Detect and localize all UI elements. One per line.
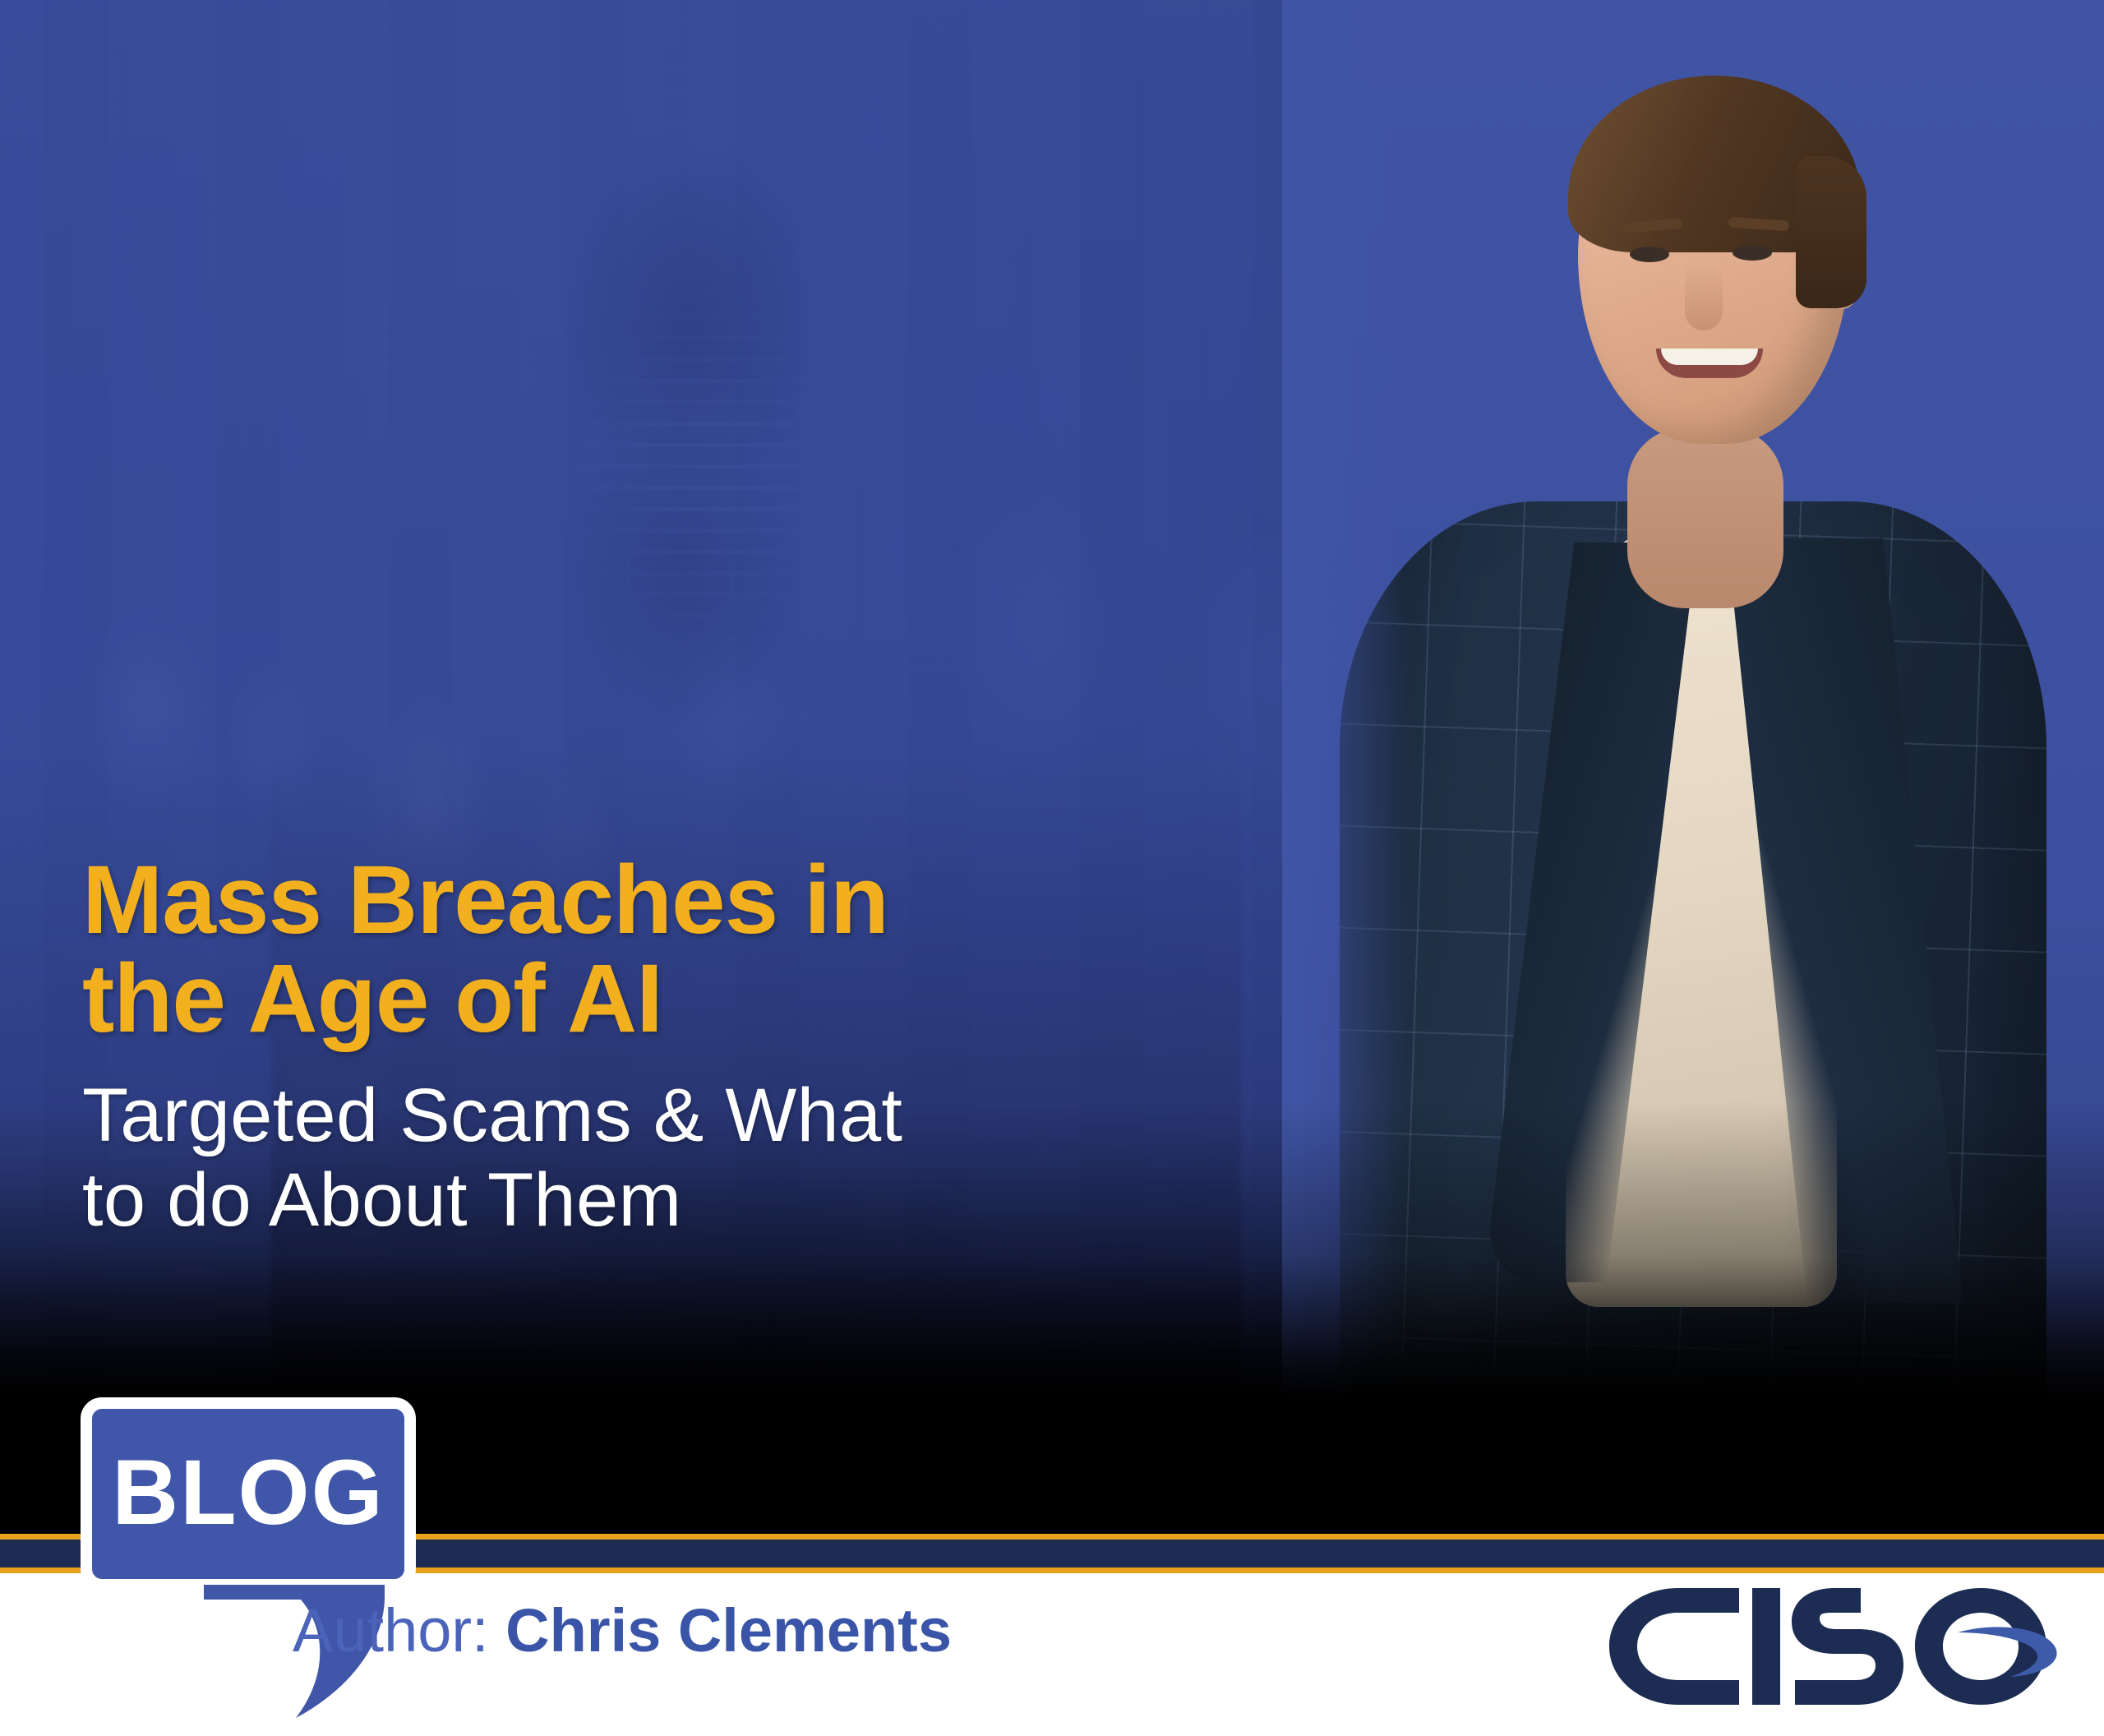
author-name: Chris Clements bbox=[505, 1596, 952, 1664]
blog-badge[interactable]: BLOG bbox=[81, 1397, 416, 1726]
portrait-hair-side bbox=[1796, 156, 1866, 308]
author-label: Author: bbox=[293, 1596, 489, 1664]
hero-background: Mass Breaches in the Age of AI Targeted … bbox=[0, 0, 2104, 1397]
portrait-eye-left bbox=[1630, 247, 1669, 262]
page-subtitle: Targeted Scams & What to do About Them bbox=[82, 1073, 1274, 1243]
blog-badge-label: BLOG bbox=[112, 1447, 385, 1539]
blog-badge-box[interactable]: BLOG bbox=[81, 1397, 416, 1591]
portrait-eye-right bbox=[1733, 245, 1772, 261]
title-line-1: Mass Breaches in bbox=[82, 851, 1274, 949]
ciso-logo[interactable] bbox=[1599, 1585, 2060, 1708]
blog-banner-canvas: Mass Breaches in the Age of AI Targeted … bbox=[0, 0, 2104, 1736]
page-title: Mass Breaches in the Age of AI bbox=[82, 851, 1274, 1049]
portrait-neck bbox=[1627, 427, 1783, 608]
portrait-mouth bbox=[1656, 349, 1763, 378]
portrait-nose bbox=[1685, 265, 1723, 330]
subtitle-line-2: to do About Them bbox=[82, 1158, 1274, 1243]
title-line-2: the Age of AI bbox=[82, 949, 1274, 1048]
subtitle-line-1: Targeted Scams & What bbox=[82, 1073, 1274, 1158]
headline-block: Mass Breaches in the Age of AI Targeted … bbox=[82, 851, 1274, 1243]
author-byline: Author: Chris Clements bbox=[293, 1600, 952, 1661]
portrait-teeth bbox=[1661, 349, 1758, 365]
